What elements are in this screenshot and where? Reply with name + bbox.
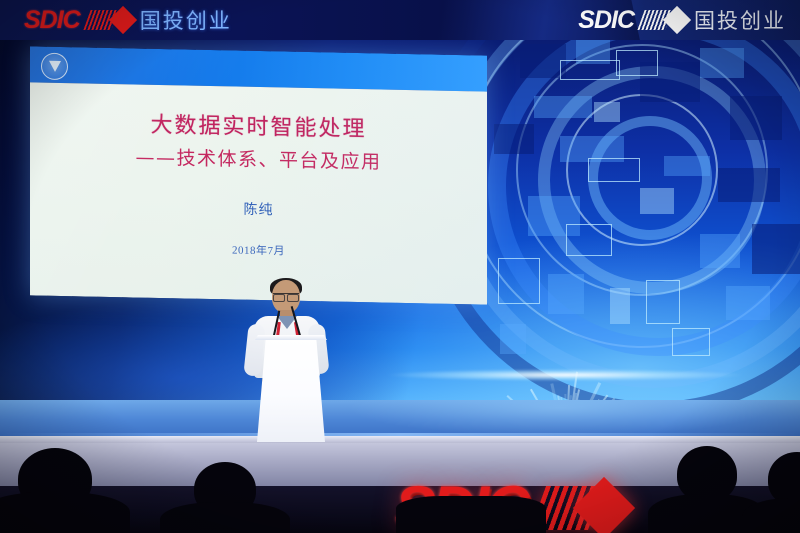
sdic-diamond-mark-icon bbox=[641, 8, 687, 32]
stage-edge-lip bbox=[0, 436, 800, 443]
brand-logo-right: SDIC 国投创业 bbox=[578, 0, 786, 40]
university-emblem-icon bbox=[41, 53, 68, 81]
slide-date: 2018年7月 bbox=[30, 237, 487, 262]
audience-silhouette bbox=[742, 452, 800, 533]
slide-body: 大数据实时智能处理 ——技术体系、平台及应用 陈纯 2018年7月 bbox=[30, 82, 487, 304]
slide-title: 大数据实时智能处理 bbox=[30, 104, 487, 145]
audience-silhouette bbox=[0, 448, 130, 533]
sdic-wordmark: SDIC bbox=[24, 8, 80, 33]
presentation-slide: 大数据实时智能处理 ——技术体系、平台及应用 陈纯 2018年7月 bbox=[30, 46, 487, 304]
sdic-wordmark: SDIC bbox=[578, 8, 634, 33]
podium-top bbox=[255, 335, 327, 340]
brand-chinese-name: 国投创业 bbox=[694, 5, 786, 35]
sdic-diamond-mark-icon bbox=[87, 8, 133, 32]
brand-chinese-name: 国投创业 bbox=[140, 5, 232, 35]
eyeglasses-icon bbox=[273, 293, 299, 300]
conference-photo: 大数据实时智能处理 ——技术体系、平台及应用 陈纯 2018年7月 SDIC bbox=[0, 0, 800, 533]
podium-lectern bbox=[257, 337, 325, 442]
brand-logo-left: SDIC 国投创业 bbox=[24, 0, 232, 40]
stage-glow-strip bbox=[0, 433, 800, 436]
sdic-diamond-mark-icon bbox=[538, 478, 628, 533]
top-banner: SDIC 国投创业 SDIC 国投创业 bbox=[0, 0, 800, 40]
slide-speaker-name: 陈纯 bbox=[30, 194, 487, 223]
audience-silhouette bbox=[396, 496, 546, 533]
slide-subtitle: ——技术体系、平台及应用 bbox=[30, 140, 487, 176]
audience-silhouette bbox=[160, 462, 290, 533]
